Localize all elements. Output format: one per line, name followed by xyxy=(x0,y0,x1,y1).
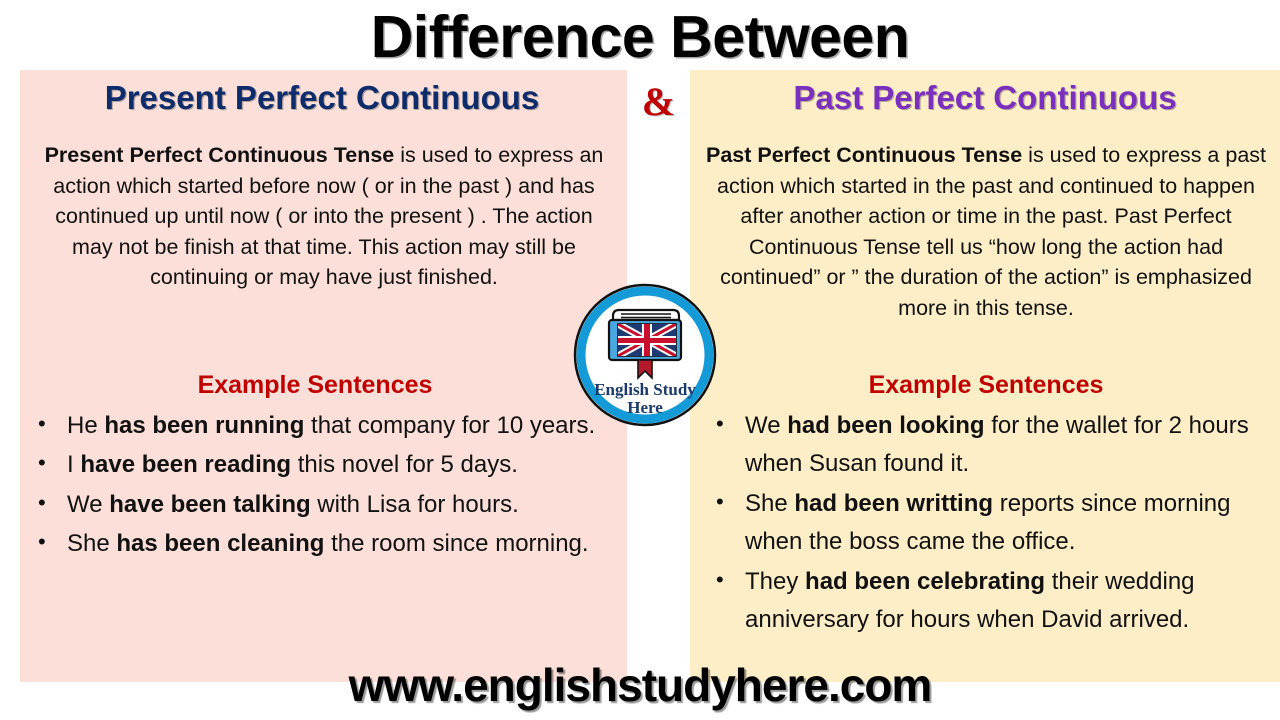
list-item: He has been running that company for 10 … xyxy=(22,407,618,445)
infographic-root: Difference Between Present Perfect Conti… xyxy=(0,0,1280,720)
sentence-prefix: We xyxy=(745,412,787,439)
right-description-term: Past Perfect Continuous Tense xyxy=(706,143,1022,167)
list-item: She had been writting reports since morn… xyxy=(700,485,1278,562)
left-examples-list: He has been running that company for 10 … xyxy=(22,407,618,565)
left-column-heading: Present Perfect Continuous xyxy=(22,80,622,116)
list-item: I have been reading this novel for 5 day… xyxy=(22,446,618,484)
left-description-term: Present Perfect Continuous Tense xyxy=(45,143,395,167)
left-column-description: Present Perfect Continuous Tense is used… xyxy=(32,140,616,293)
list-item: She has been cleaning the room since mor… xyxy=(22,525,618,563)
sentence-suffix: the room since morning. xyxy=(324,530,588,557)
sentence-verb: had been writting xyxy=(794,490,993,517)
sentence-prefix: They xyxy=(745,568,805,595)
sentence-prefix: She xyxy=(67,530,116,557)
sentence-verb: had been celebrating xyxy=(805,568,1045,595)
right-examples-list: We had been looking for the wallet for 2… xyxy=(700,407,1278,640)
list-item: We have been talking with Lisa for hours… xyxy=(22,486,618,524)
english-study-here-logo: English Study Here xyxy=(573,283,717,427)
book-top-cover xyxy=(613,310,679,320)
uk-flag-icon xyxy=(618,324,676,356)
sentence-prefix: She xyxy=(745,490,794,517)
logo-text-line2: Here xyxy=(627,398,663,417)
sentence-verb: have been talking xyxy=(109,491,310,518)
sentence-suffix: that company for 10 years. xyxy=(304,412,595,439)
page-title: Difference Between xyxy=(0,8,1280,67)
sentence-prefix: We xyxy=(67,491,109,518)
sentence-suffix: this novel for 5 days. xyxy=(291,451,518,478)
list-item: We had been looking for the wallet for 2… xyxy=(700,407,1278,484)
sentence-verb: had been looking xyxy=(787,412,984,439)
sentence-verb: have been reading xyxy=(80,451,291,478)
list-item: They had been celebrating their wedding … xyxy=(700,563,1278,640)
right-column-heading: Past Perfect Continuous xyxy=(690,80,1280,116)
sentence-verb: has been running xyxy=(104,412,304,439)
logo-svg: English Study Here xyxy=(573,283,717,427)
sentence-prefix: He xyxy=(67,412,104,439)
sentence-prefix: I xyxy=(67,451,80,478)
website-url: www.englishstudyhere.com xyxy=(0,658,1280,712)
sentence-suffix: with Lisa for hours. xyxy=(311,491,519,518)
right-column-description: Past Perfect Continuous Tense is used to… xyxy=(700,140,1272,323)
separator-ampersand: & xyxy=(627,78,690,125)
logo-text-line1: English Study xyxy=(594,380,696,399)
right-examples-heading: Example Sentences xyxy=(700,371,1272,400)
right-description-body: is used to express a past action which s… xyxy=(717,143,1266,320)
left-examples-heading: Example Sentences xyxy=(32,371,598,400)
sentence-verb: has been cleaning xyxy=(116,530,324,557)
